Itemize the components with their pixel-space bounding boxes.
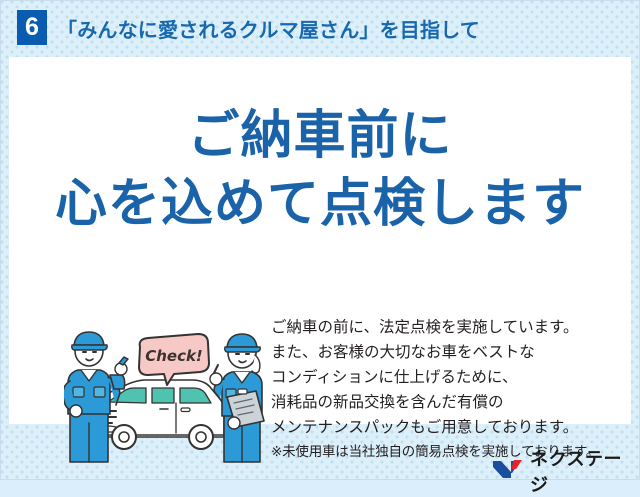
brand-logo: ネクステージ	[492, 445, 640, 497]
body-copy-line-1: ご納車の前に、法定点検を実施しています。	[271, 315, 599, 340]
check-speech-bubble: Check!	[139, 334, 209, 385]
body-copy-line-5: メンテナンスパックもご用意しております。	[271, 415, 599, 440]
illustration-mechanics-van: Check!	[64, 319, 269, 467]
body-copy-line-3: コンディションに仕上げるために、	[271, 365, 599, 390]
body-copy-line-2: また、お客様の大切なお車をベストな	[271, 340, 599, 365]
header: 6 「みんなに愛されるクルマ屋さん」を目指して	[0, 0, 640, 57]
body-copy-line-4: 消耗品の新品交換を含んだ有償の	[271, 390, 599, 415]
svg-text:Check!: Check!	[145, 347, 203, 365]
nextage-n-mark-icon	[492, 457, 524, 486]
headline-line-1: ご納車前に	[9, 93, 631, 168]
section-number-badge: 6	[17, 10, 47, 45]
header-title: 「みんなに愛されるクルマ屋さん」を目指して	[57, 14, 480, 43]
brand-name: ネクステージ	[530, 445, 640, 497]
body-copy: ご納車の前に、法定点検を実施しています。 また、お客様の大切なお車をベストな コ…	[271, 315, 599, 464]
content-card: ご納車前に 心を込めて点検します	[9, 57, 631, 424]
headline-line-2: 心を込めて点検します	[9, 161, 631, 236]
